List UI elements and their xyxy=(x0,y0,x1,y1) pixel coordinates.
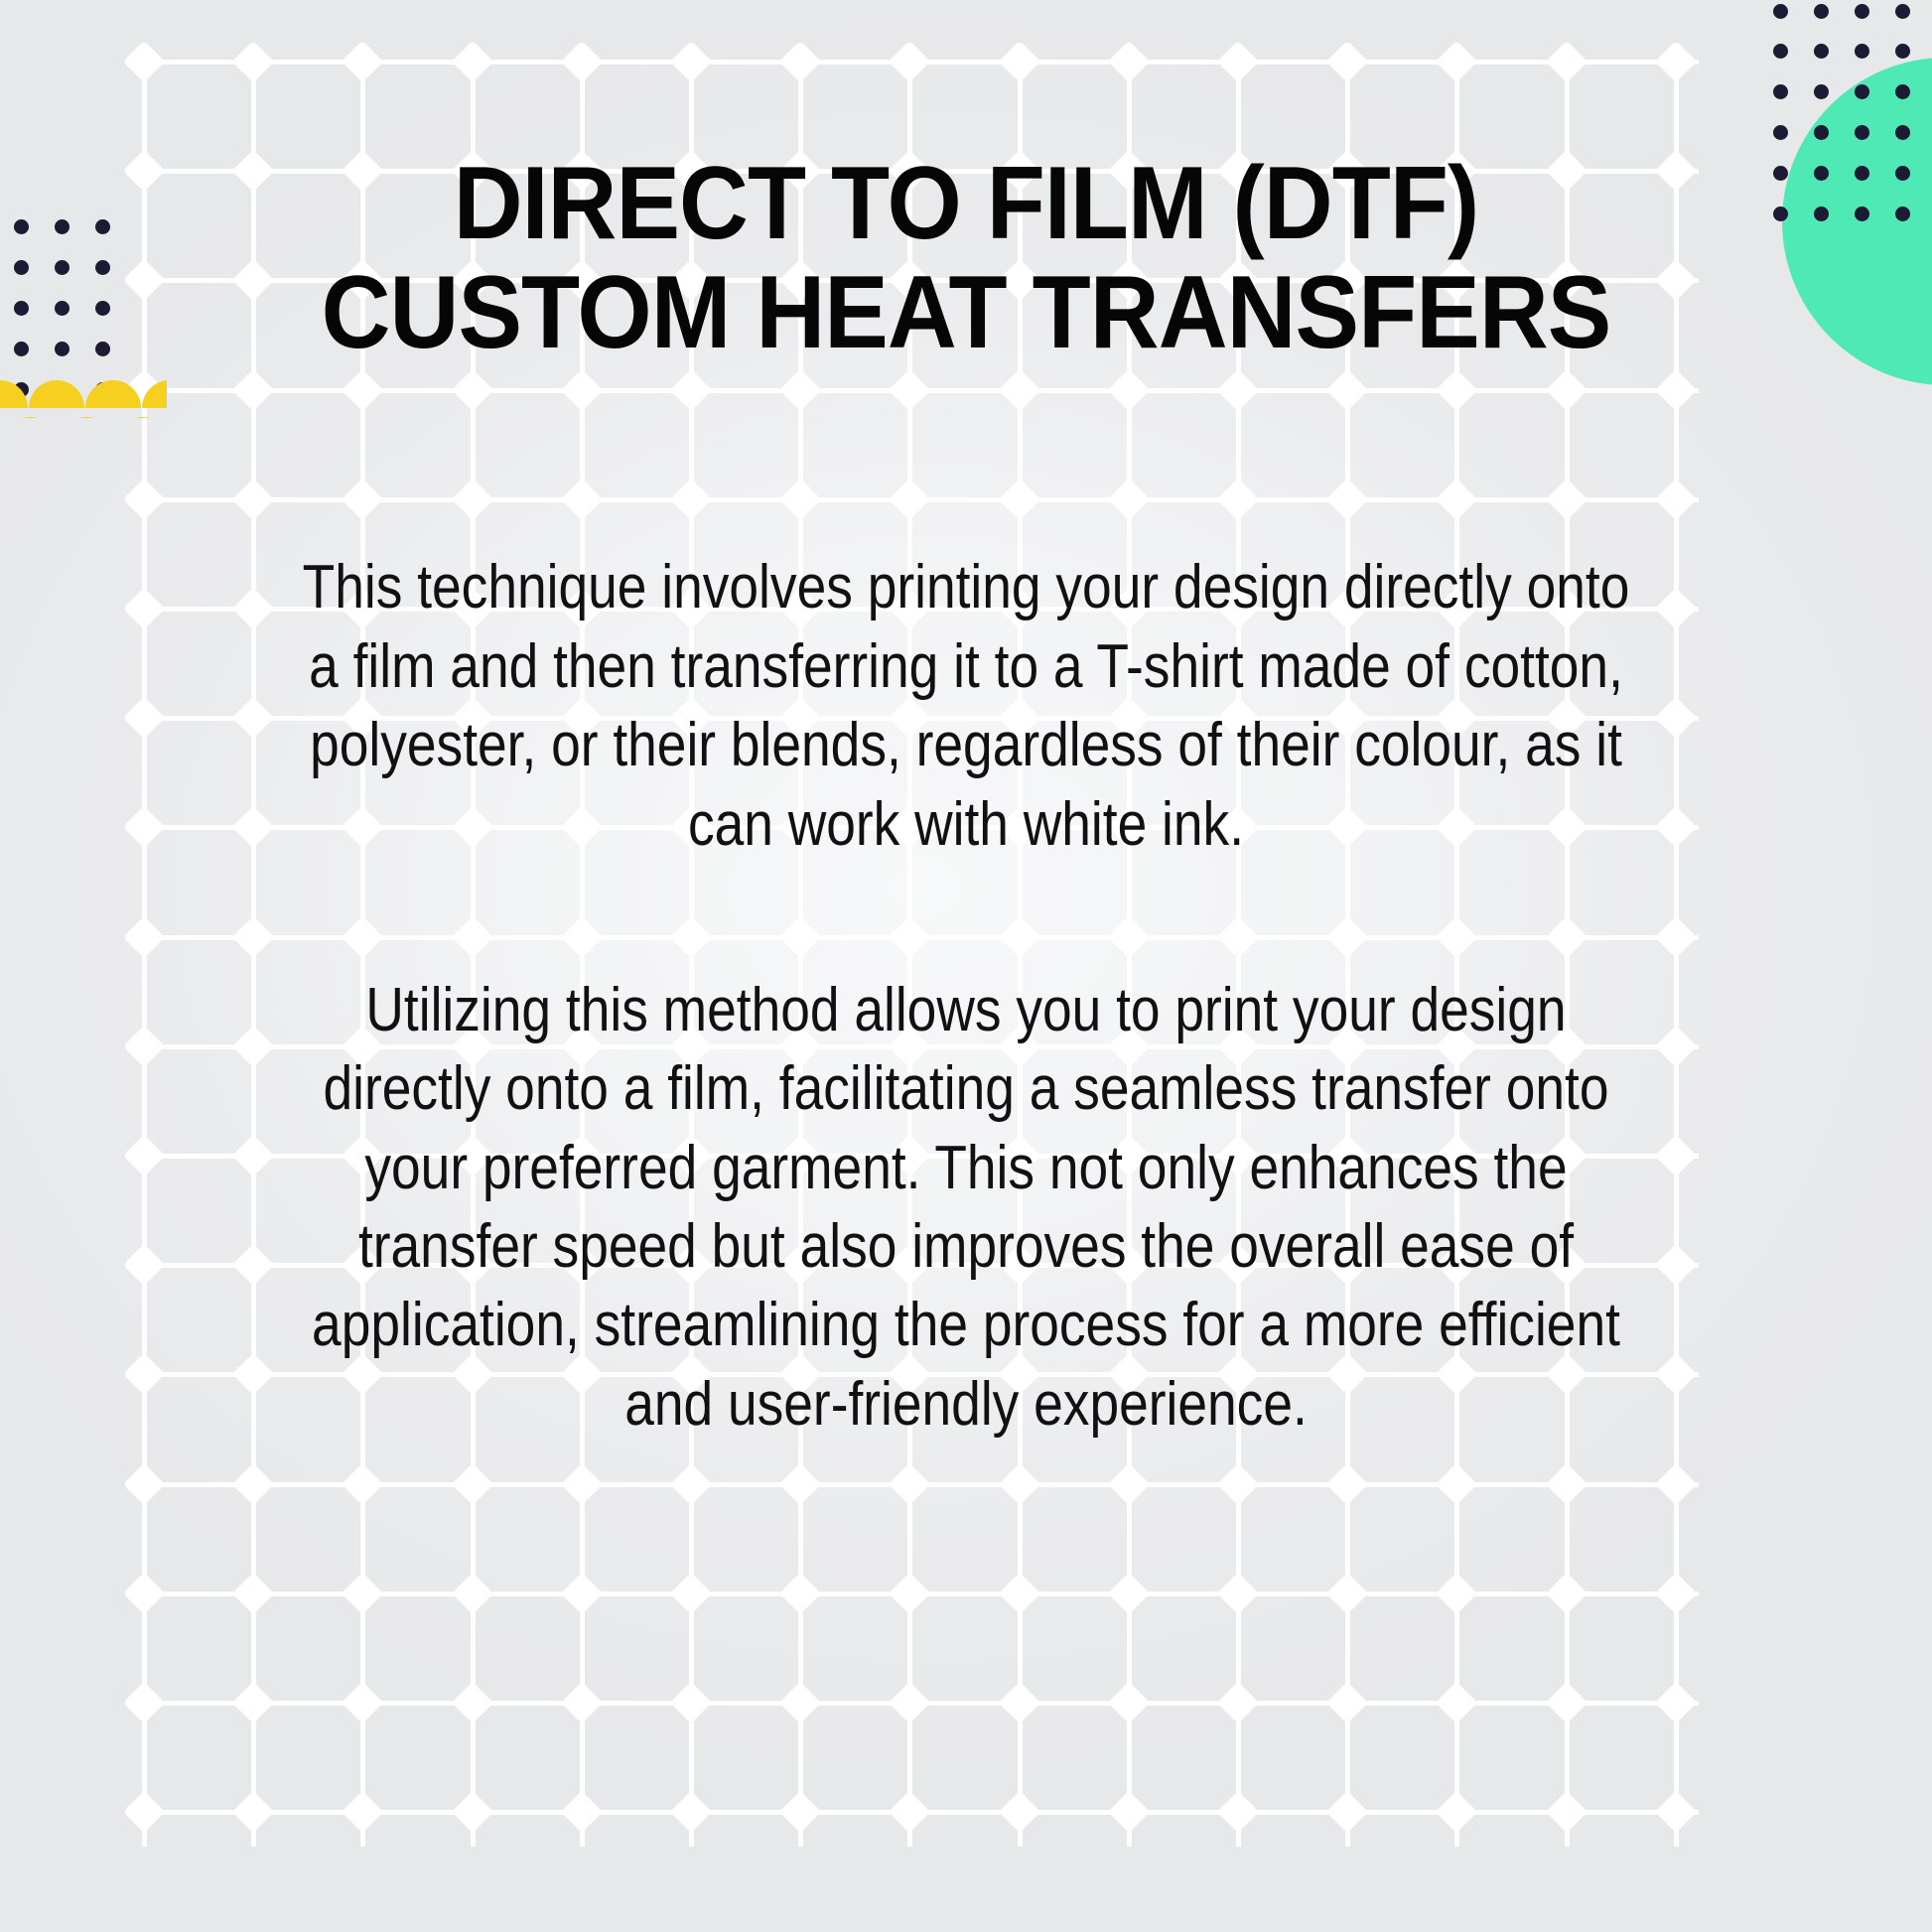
grid-diamond-node xyxy=(1655,1682,1697,1724)
grid-diamond-node xyxy=(889,1463,930,1505)
grid-diamond-node xyxy=(1326,1573,1368,1614)
grid-diamond-node xyxy=(1217,1791,1259,1833)
paragraph-1: This technique involves printing your de… xyxy=(289,367,1643,863)
grid-diamond-node xyxy=(123,1463,165,1505)
poster-canvas: DIRECT TO FILM (DTF)CUSTOM HEAT TRANSFER… xyxy=(0,0,1932,1932)
grid-diamond-node xyxy=(123,1791,165,1833)
grid-diamond-node xyxy=(1326,1682,1368,1724)
grid-diamond-node xyxy=(1436,1682,1477,1724)
grid-diamond-node xyxy=(779,1791,821,1833)
grid-diamond-node xyxy=(1436,1573,1477,1614)
grid-diamond-node xyxy=(561,1791,603,1833)
grid-diamond-node xyxy=(999,1791,1040,1833)
grid-diamond-node xyxy=(670,1791,712,1833)
grid-diamond-node xyxy=(1108,1682,1150,1724)
grid-diamond-node xyxy=(670,1463,712,1505)
grid-diamond-node xyxy=(779,1573,821,1614)
grid-diamond-node xyxy=(779,1682,821,1724)
grid-diamond-node xyxy=(342,1463,383,1505)
grid-diamond-node xyxy=(452,1791,493,1833)
grid-diamond-node xyxy=(1108,1791,1150,1833)
paragraph-2: Utilizing this method allows you to prin… xyxy=(289,864,1643,1444)
grid-diamond-node xyxy=(889,1682,930,1724)
grid-diamond-node xyxy=(342,1791,383,1833)
grid-diamond-node xyxy=(232,1682,274,1724)
grid-diamond-node xyxy=(1546,1682,1587,1724)
grid-line-horizontal xyxy=(144,1701,1699,1706)
grid-diamond-node xyxy=(342,1682,383,1724)
body-copy: This technique involves printing your de… xyxy=(149,367,1783,1444)
grid-diamond-node xyxy=(1217,1682,1259,1724)
title-line-1: DIRECT TO FILM (DTF) xyxy=(454,146,1479,261)
page-title: DIRECT TO FILM (DTF)CUSTOM HEAT TRANSFER… xyxy=(207,0,1726,367)
poster-content: DIRECT TO FILM (DTF)CUSTOM HEAT TRANSFER… xyxy=(0,0,1932,1444)
grid-diamond-node xyxy=(1108,1573,1150,1614)
grid-diamond-node xyxy=(232,1463,274,1505)
grid-diamond-node xyxy=(999,1682,1040,1724)
grid-diamond-node xyxy=(1546,1791,1587,1833)
grid-diamond-node xyxy=(1655,1791,1697,1833)
grid-diamond-node xyxy=(999,1573,1040,1614)
grid-line-horizontal xyxy=(144,1591,1699,1596)
grid-diamond-node xyxy=(1436,1463,1477,1505)
grid-diamond-node xyxy=(889,1573,930,1614)
grid-diamond-node xyxy=(561,1463,603,1505)
grid-diamond-node xyxy=(452,1573,493,1614)
grid-diamond-node xyxy=(123,1682,165,1724)
grid-diamond-node xyxy=(232,1573,274,1614)
grid-diamond-node xyxy=(1326,1791,1368,1833)
grid-diamond-node xyxy=(999,1463,1040,1505)
grid-diamond-node xyxy=(1217,1463,1259,1505)
grid-line-horizontal xyxy=(144,1482,1699,1487)
grid-diamond-node xyxy=(1326,1463,1368,1505)
grid-diamond-node xyxy=(123,1573,165,1614)
grid-diamond-node xyxy=(561,1573,603,1614)
title-line-2: CUSTOM HEAT TRANSFERS xyxy=(322,255,1611,370)
grid-line-horizontal xyxy=(144,1810,1699,1815)
grid-diamond-node xyxy=(1655,1573,1697,1614)
grid-diamond-node xyxy=(670,1573,712,1614)
grid-diamond-node xyxy=(779,1463,821,1505)
grid-diamond-node xyxy=(561,1682,603,1724)
grid-diamond-node xyxy=(1546,1573,1587,1614)
grid-diamond-node xyxy=(452,1463,493,1505)
grid-diamond-node xyxy=(670,1682,712,1724)
grid-diamond-node xyxy=(1108,1463,1150,1505)
grid-diamond-node xyxy=(1217,1573,1259,1614)
grid-diamond-node xyxy=(342,1573,383,1614)
grid-diamond-node xyxy=(1436,1791,1477,1833)
grid-diamond-node xyxy=(1546,1463,1587,1505)
grid-diamond-node xyxy=(452,1682,493,1724)
grid-diamond-node xyxy=(232,1791,274,1833)
grid-diamond-node xyxy=(889,1791,930,1833)
grid-diamond-node xyxy=(1655,1463,1697,1505)
